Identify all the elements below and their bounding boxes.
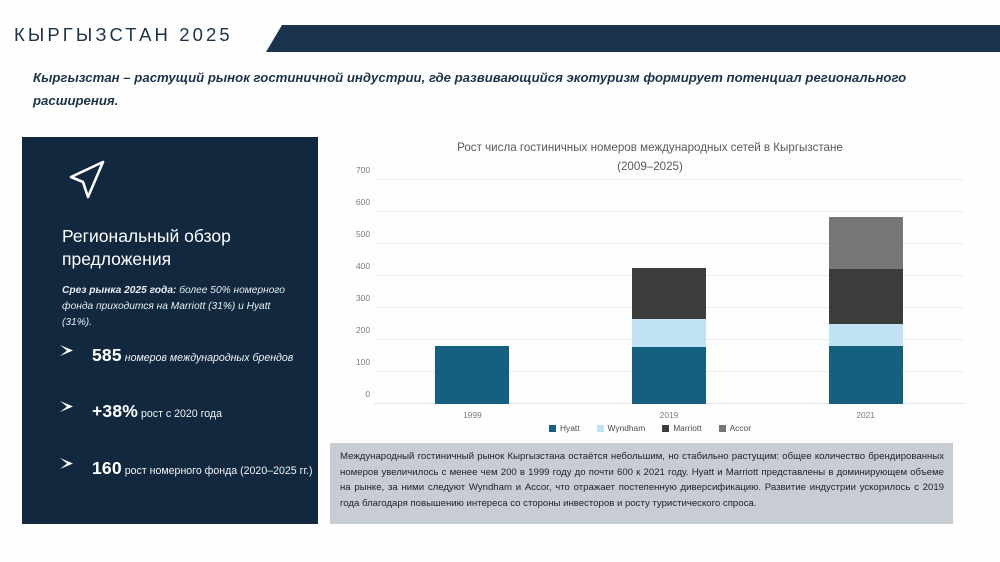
chart-bar-segment-marriott[interactable] (632, 268, 706, 319)
kpi-value: 160 (92, 458, 122, 478)
chart-bar-segment-wyndham[interactable] (632, 319, 706, 347)
slide-subtitle: Кыргызстан – растущий рынок гостиничной … (33, 67, 923, 112)
list-item: +38% рост с 2020 года (58, 398, 313, 424)
list-item: 585 номеров международных брендов (58, 342, 313, 368)
chart-plot-area: 0100200300400500600700199920192021 (374, 180, 964, 404)
header-banner-decoration (266, 25, 1000, 52)
commentary-text: Международный гостиничный рынок Кыргызст… (340, 449, 944, 511)
legend-swatch-icon (719, 425, 726, 432)
chart-bar-segment-marriott[interactable] (829, 269, 903, 324)
legend-swatch-icon (662, 425, 669, 432)
kpi-line: +38% рост с 2020 года (92, 408, 222, 420)
chart-y-axis-tick: 100 (326, 357, 370, 367)
chart-title: Рост числа гостиничных номеров междунаро… (330, 138, 970, 176)
regional-overview-panel: Региональный обзор предложения Срез рынк… (22, 137, 318, 524)
kpi-value: 585 (92, 345, 122, 365)
chart-bar-segment-wyndham[interactable] (829, 324, 903, 346)
slide-header: КЫРГЫЗСТАН 2025 (0, 0, 1000, 62)
kpi-label: номеров международных брендов (122, 352, 294, 364)
list-item: 160 рост номерного фонда (2020–2025 гг.) (58, 455, 313, 481)
chart-y-axis-tick: 300 (326, 293, 370, 303)
kpi-value: +38% (92, 401, 138, 421)
kpi-bullet-list: 585 номеров международных брендов +38% р… (58, 342, 313, 511)
chart-bar-group[interactable] (632, 180, 706, 404)
slide-canvas: КЫРГЫЗСТАН 2025 Кыргызстан – растущий ры… (0, 0, 1000, 562)
chart-y-axis-tick: 500 (326, 229, 370, 239)
chart-legend-item-hyatt[interactable]: Hyatt (549, 423, 580, 433)
chart-x-axis-tick: 2019 (629, 410, 709, 420)
commentary-box: Международный гостиничный рынок Кыргызст… (330, 443, 953, 524)
chevron-bullet-icon (58, 456, 77, 471)
legend-swatch-icon (597, 425, 604, 432)
hotel-rooms-growth-chart: Рост числа гостиничных номеров междунаро… (330, 133, 970, 443)
legend-label: Accor (730, 423, 751, 433)
chart-x-axis-tick: 1999 (432, 410, 512, 420)
legend-label: Hyatt (560, 423, 580, 433)
legend-label: Marriott (673, 423, 701, 433)
chart-legend-item-accor[interactable]: Accor (719, 423, 751, 433)
chart-y-axis-tick: 700 (326, 165, 370, 175)
chart-bar-group[interactable] (829, 180, 903, 404)
kpi-line: 160 рост номерного фонда (2020–2025 гг.) (92, 465, 313, 477)
navigation-arrow-icon (63, 157, 109, 203)
chart-legend: HyattWyndhamMarriottAccor (330, 423, 970, 433)
legend-label: Wyndham (608, 423, 646, 433)
chevron-bullet-icon (58, 399, 77, 414)
panel-heading: Региональный обзор предложения (62, 225, 292, 272)
chart-bar-segment-accor[interactable] (829, 217, 903, 269)
chart-y-axis-tick: 200 (326, 325, 370, 335)
chart-y-axis-tick: 400 (326, 261, 370, 271)
chart-bar-segment-hyatt[interactable] (829, 346, 903, 404)
kpi-label: рост номерного фонда (2020–2025 гг.) (122, 465, 313, 477)
chart-legend-item-marriott[interactable]: Marriott (662, 423, 701, 433)
kpi-label: рост с 2020 года (138, 408, 222, 420)
chart-bar-group[interactable] (435, 180, 509, 404)
chart-legend-item-wyndham[interactable]: Wyndham (597, 423, 646, 433)
chart-bar-segment-hyatt[interactable] (632, 347, 706, 404)
market-snapshot-note: Срез рынка 2025 года: более 50% номерног… (62, 283, 300, 330)
chart-x-axis-tick: 2021 (826, 410, 906, 420)
chart-title-line-1: Рост числа гостиничных номеров междунаро… (330, 138, 970, 157)
legend-swatch-icon (549, 425, 556, 432)
chart-y-axis-tick: 600 (326, 197, 370, 207)
chevron-bullet-icon (58, 343, 77, 358)
chart-y-axis-tick: 0 (326, 389, 370, 399)
kpi-line: 585 номеров международных брендов (92, 352, 293, 364)
market-snapshot-label: Срез рынка 2025 года: (62, 285, 176, 296)
chart-title-line-2: (2009–2025) (330, 157, 970, 176)
page-title: КЫРГЫЗСТАН 2025 (14, 24, 233, 46)
chart-bar-segment-hyatt[interactable] (435, 346, 509, 404)
